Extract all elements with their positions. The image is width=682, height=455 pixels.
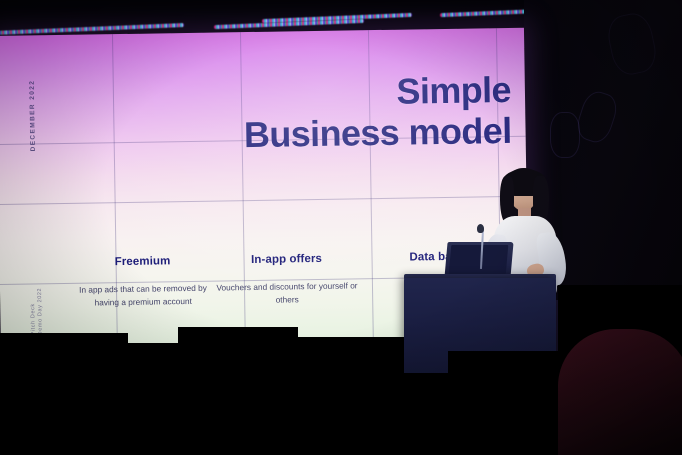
- slide-headline: Simple Business model: [243, 72, 512, 154]
- conference-photo-scene: DECEMBER 2022 Pitch Deck Demo Day 2022 S…: [0, 0, 682, 455]
- slide-column-title: Freemium: [67, 255, 217, 269]
- audience-body: [558, 329, 682, 455]
- slide-date-label: DECEMBER 2022: [29, 80, 37, 152]
- slide-headline-line-1: Simple: [243, 72, 511, 113]
- faint-outline: [550, 112, 580, 158]
- audience-silhouette: [558, 285, 682, 455]
- audience-silhouette: [276, 337, 404, 455]
- slide-headline-line-2: Business model: [244, 113, 512, 154]
- slide-grid-line: [0, 196, 527, 205]
- slide-footer-line-2: Demo Day 2022: [37, 288, 44, 336]
- audience-silhouette: [448, 351, 562, 455]
- laptop: [444, 242, 513, 278]
- slide-column-freemium: Freemium In app ads that can be removed …: [67, 255, 218, 311]
- audience-body: [448, 401, 562, 455]
- slide-column-body: In app ads that can be removed by having…: [68, 282, 218, 311]
- slide-column-title: In-app offers: [211, 252, 361, 266]
- faint-outline: [604, 10, 660, 78]
- microphone-icon: [477, 224, 484, 233]
- faint-outline: [573, 88, 621, 146]
- laptop-screen: [449, 245, 509, 274]
- audience-body: [276, 399, 404, 455]
- slide-footer-line-1: Pitch Deck: [30, 303, 37, 335]
- slide-column-in-app-offers: In-app offers Vouchers and discounts for…: [211, 252, 362, 308]
- slide-column-body: Vouchers and discounts for yourself or o…: [212, 279, 362, 308]
